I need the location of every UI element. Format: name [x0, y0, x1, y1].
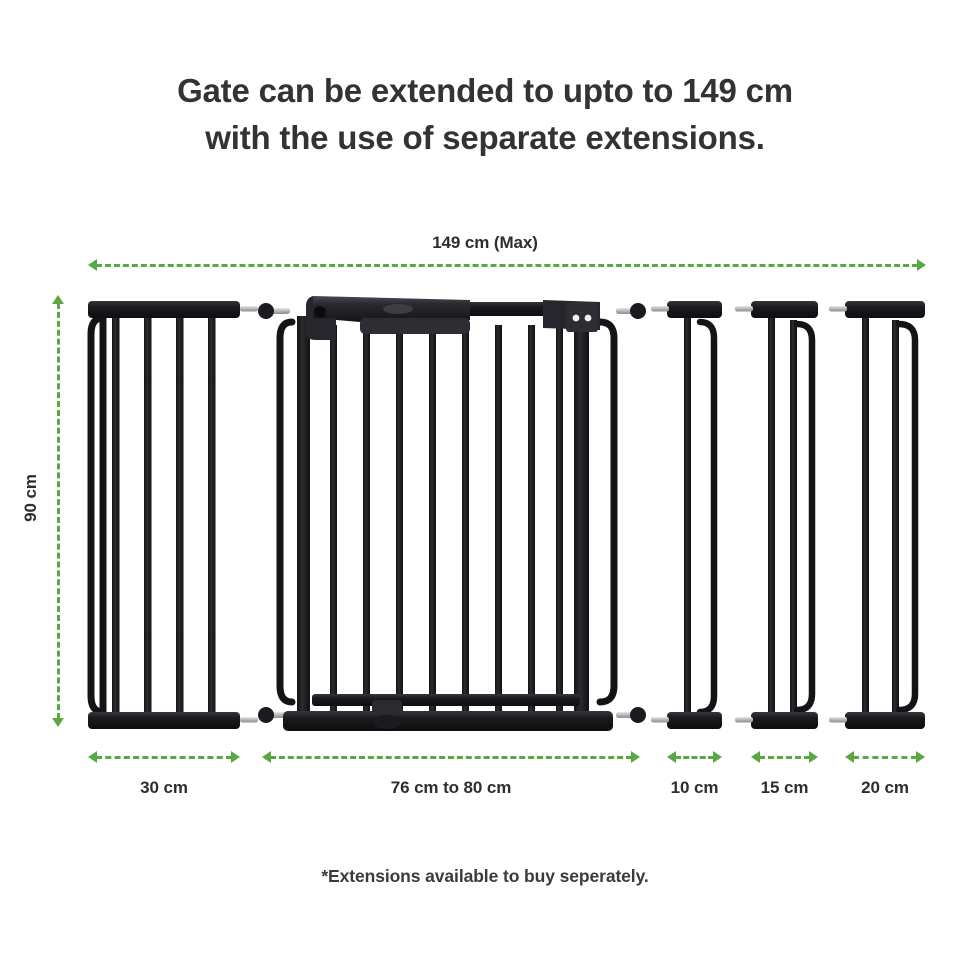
arrow-tip-right — [917, 259, 926, 271]
headline-line-2: with the use of separate extensions. — [0, 115, 970, 162]
extension-panel-30cm — [88, 301, 258, 729]
main-gate — [258, 296, 646, 731]
dimension-label-overall-width: 149 cm (Max) — [0, 233, 970, 253]
arrow-line — [853, 756, 917, 759]
arrow-tip-right — [809, 751, 818, 763]
dimension-label-ext15: 15 cm — [747, 778, 822, 798]
footnote-text: *Extensions available to buy seperately. — [0, 866, 970, 887]
dimension-arrow-ext30 — [88, 750, 240, 764]
extension-panel-10cm — [651, 301, 722, 729]
arrow-line — [675, 756, 714, 759]
arrow-line — [270, 756, 632, 759]
arrow-tip-right — [231, 751, 240, 763]
headline-line-1: Gate can be extended to upto to 149 cm — [0, 68, 970, 115]
extension-panel-15cm — [735, 301, 818, 729]
arrow-tip-right — [713, 751, 722, 763]
arrow-line — [57, 303, 60, 719]
dimension-arrow-overall-width — [88, 258, 926, 272]
dimension-arrow-ext15 — [751, 750, 818, 764]
extension-panel-20cm — [829, 301, 925, 729]
gate-latch-handle — [306, 296, 470, 340]
dimension-arrow-height — [51, 295, 65, 727]
arrow-line — [759, 756, 810, 759]
arrow-tip-right — [916, 751, 925, 763]
dimension-arrow-ext10 — [667, 750, 722, 764]
dimension-label-ext30: 30 cm — [88, 778, 240, 798]
dimension-label-ext20: 20 cm — [847, 778, 923, 798]
page-title: Gate can be extended to upto to 149 cm w… — [0, 68, 970, 162]
dimension-label-height: 90 cm — [21, 458, 41, 538]
arrow-tip-right — [631, 751, 640, 763]
dimension-label-gate: 76 cm to 80 cm — [262, 778, 640, 798]
arrow-line — [96, 264, 918, 267]
dimension-label-ext10: 10 cm — [657, 778, 732, 798]
arrow-tip-bottom — [52, 718, 64, 727]
dimension-arrow-gate — [262, 750, 640, 764]
dimension-arrow-ext20 — [845, 750, 925, 764]
latch-receiver — [543, 300, 600, 332]
arrow-line — [96, 756, 232, 759]
